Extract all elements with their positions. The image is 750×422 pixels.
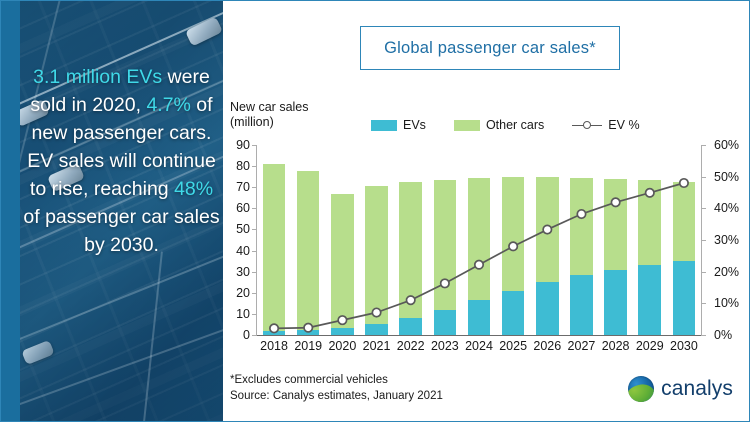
bar-segment-evs xyxy=(297,330,320,335)
y-tick-label-left: 30 xyxy=(236,265,250,279)
y-tick-left xyxy=(252,293,257,294)
y-tick-label-right: 20% xyxy=(714,265,739,279)
canalys-globe-icon xyxy=(628,376,654,402)
y-tick-left xyxy=(252,229,257,230)
bar-segment-evs xyxy=(502,291,525,335)
chart-panel: Global passenger car sales* New car sale… xyxy=(223,1,749,421)
y-tick-label-left: 80 xyxy=(236,159,250,173)
stacked-bar xyxy=(570,178,593,335)
bar-segment-other-cars xyxy=(468,178,491,300)
y-tick-label-right: 40% xyxy=(714,201,739,215)
car-photo-element xyxy=(21,340,54,365)
y-tick-right xyxy=(701,208,706,209)
stacked-bar xyxy=(263,164,286,335)
bar-segment-evs xyxy=(468,300,491,335)
bar-segment-other-cars xyxy=(365,186,388,324)
y-tick-left xyxy=(252,208,257,209)
y-tick-left xyxy=(252,272,257,273)
x-axis-line xyxy=(256,335,702,336)
y-tick-left xyxy=(252,145,257,146)
y-tick-right xyxy=(701,272,706,273)
x-axis-label: 2026 xyxy=(533,339,561,353)
plot-area-wrapper: 0102030405060708090 0%10%20%30%40%50%60%… xyxy=(223,139,750,344)
y-tick-right xyxy=(701,145,706,146)
x-axis-label: 2019 xyxy=(294,339,322,353)
chart-title: Global passenger car sales* xyxy=(384,39,596,58)
bar-segment-other-cars xyxy=(604,179,627,270)
y-tick-left xyxy=(252,166,257,167)
callout-seg-3: 4.7% xyxy=(146,94,190,116)
bar-segment-other-cars xyxy=(502,177,525,291)
bar-segment-evs xyxy=(434,310,457,335)
left-accent-bar xyxy=(1,1,20,422)
x-axis-label: 2025 xyxy=(499,339,527,353)
bar-segment-evs xyxy=(365,324,388,335)
y-tick-right xyxy=(701,177,706,178)
footnote-source: Source: Canalys estimates, January 2021 xyxy=(230,388,443,404)
x-axis-label: 2024 xyxy=(465,339,493,353)
bar-segment-evs xyxy=(331,328,354,335)
y-tick-label-right: 30% xyxy=(714,233,739,247)
stacked-bar xyxy=(434,180,457,335)
canalys-logo-text: canalys xyxy=(661,377,733,401)
y-axis-left-line xyxy=(256,145,257,335)
legend-item-evs: EVs xyxy=(371,118,426,132)
y-tick-right xyxy=(701,240,706,241)
y-tick-right xyxy=(701,335,706,336)
footnotes: *Excludes commercial vehicles Source: Ca… xyxy=(230,372,443,404)
headline-callout: 3.1 million EVs were sold in 2020, 4.7% … xyxy=(20,63,223,259)
callout-seg-5: 48% xyxy=(174,178,213,200)
chart-legend: EVs Other cars EV % xyxy=(371,118,640,132)
y-tick-label-right: 60% xyxy=(714,138,739,152)
x-axis-label: 2028 xyxy=(602,339,630,353)
stacked-bar xyxy=(297,171,320,335)
legend-item-other-cars: Other cars xyxy=(454,118,544,132)
stacked-bar xyxy=(502,177,525,335)
callout-seg-1: 3.1 million EVs xyxy=(33,66,162,88)
x-axis-label: 2023 xyxy=(431,339,459,353)
bar-segment-other-cars xyxy=(536,177,559,283)
y-axis-caption-line1: New car sales xyxy=(230,100,309,115)
x-axis-label: 2027 xyxy=(568,339,596,353)
legend-swatch-evs xyxy=(371,120,397,131)
x-axis-label: 2022 xyxy=(397,339,425,353)
legend-label-evs: EVs xyxy=(403,118,426,132)
x-axis-label: 2020 xyxy=(328,339,356,353)
y-tick-left xyxy=(252,335,257,336)
y-tick-left xyxy=(252,187,257,188)
legend-label-ev-percent: EV % xyxy=(608,118,639,132)
y-tick-label-left: 10 xyxy=(236,307,250,321)
y-tick-label-left: 50 xyxy=(236,222,250,236)
bar-segment-evs xyxy=(399,318,422,335)
y-tick-left xyxy=(252,251,257,252)
bar-segment-other-cars xyxy=(638,180,661,266)
y-tick-label-left: 20 xyxy=(236,286,250,300)
bar-segment-other-cars xyxy=(673,182,696,261)
plot-area: 0102030405060708090 0%10%20%30%40%50%60%… xyxy=(257,145,701,335)
bar-segment-evs xyxy=(263,331,286,335)
bar-segment-other-cars xyxy=(263,164,286,331)
bar-segment-other-cars xyxy=(434,180,457,310)
bar-segment-other-cars xyxy=(331,194,354,329)
y-axis-caption: New car sales (million) xyxy=(230,100,309,129)
car-photo-element xyxy=(185,16,223,46)
bar-segment-evs xyxy=(604,270,627,335)
y-tick-label-right: 0% xyxy=(714,328,732,342)
bar-segment-evs xyxy=(638,265,661,335)
legend-swatch-ev-percent xyxy=(572,120,602,131)
y-tick-label-left: 70 xyxy=(236,180,250,194)
y-tick-label-left: 0 xyxy=(243,328,250,342)
x-axis-label: 2030 xyxy=(670,339,698,353)
stacked-bar xyxy=(604,179,627,335)
y-tick-label-left: 40 xyxy=(236,244,250,258)
canalys-logo: canalys xyxy=(628,376,733,402)
stacked-bar xyxy=(673,182,696,335)
callout-seg-6: of passenger car sales by 2030. xyxy=(23,206,219,256)
y-axis-caption-line2: (million) xyxy=(230,115,309,130)
y-tick-right xyxy=(701,303,706,304)
stacked-bar xyxy=(536,177,559,335)
x-axis-label: 2018 xyxy=(260,339,288,353)
y-tick-label-left: 90 xyxy=(236,138,250,152)
x-axis-label: 2021 xyxy=(363,339,391,353)
x-axis-label: 2029 xyxy=(636,339,664,353)
y-tick-label-right: 50% xyxy=(714,170,739,184)
bar-segment-other-cars xyxy=(297,171,320,330)
legend-swatch-other-cars xyxy=(454,120,480,131)
bar-segment-evs xyxy=(673,261,696,335)
y-tick-left xyxy=(252,314,257,315)
bar-segment-other-cars xyxy=(570,178,593,275)
bar-segment-other-cars xyxy=(399,182,422,318)
bar-segment-evs xyxy=(536,282,559,335)
footnote-excludes: *Excludes commercial vehicles xyxy=(230,372,443,388)
y-tick-label-left: 60 xyxy=(236,201,250,215)
stacked-bar xyxy=(399,182,422,335)
legend-label-other-cars: Other cars xyxy=(486,118,544,132)
chart-title-box: Global passenger car sales* xyxy=(360,26,620,70)
stacked-bar xyxy=(638,180,661,335)
slide-canvas: 3.1 million EVs were sold in 2020, 4.7% … xyxy=(0,0,750,422)
bar-segment-evs xyxy=(570,275,593,335)
stacked-bar xyxy=(365,186,388,335)
stacked-bar xyxy=(331,194,354,335)
stacked-bar xyxy=(468,178,491,335)
y-tick-label-right: 10% xyxy=(714,296,739,310)
legend-item-ev-percent: EV % xyxy=(572,118,639,132)
